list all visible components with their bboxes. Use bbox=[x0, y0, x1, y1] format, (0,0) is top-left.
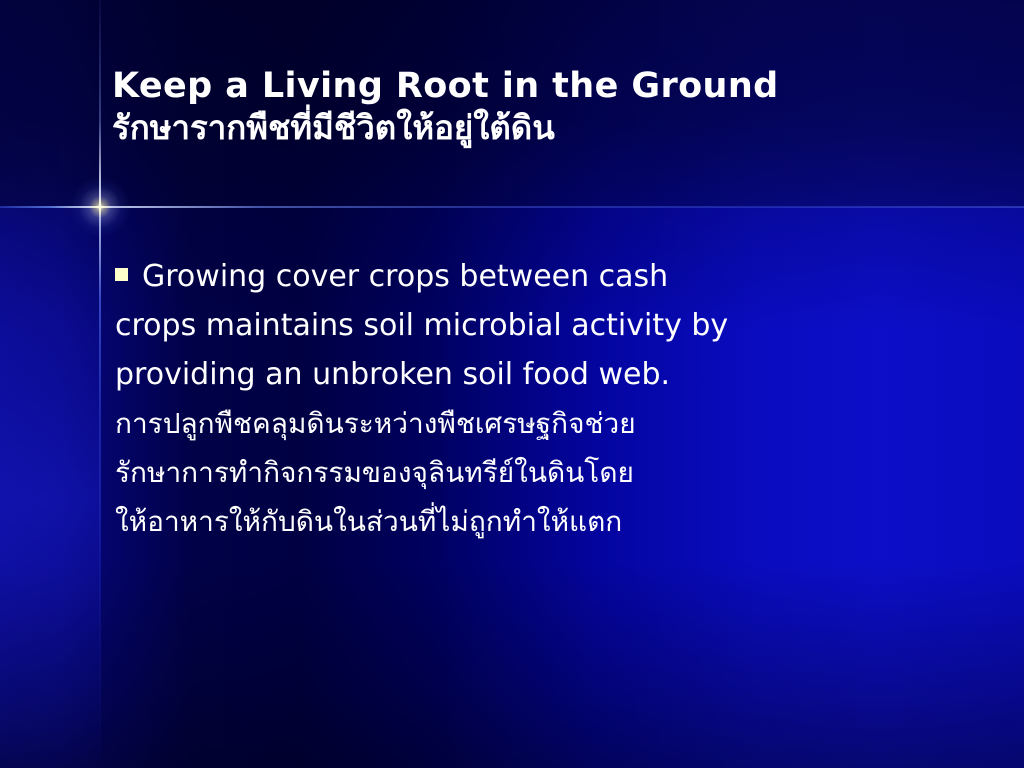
body-line-english-3: providing an unbroken soil food web. bbox=[115, 350, 965, 399]
square-bullet-icon bbox=[115, 268, 128, 281]
title-line-thai: รักษารากพืชที่มีชีวิตให้อยู่ใต้ดิน bbox=[112, 107, 992, 149]
body-line-thai-2: รักษาการทำกิจกรรมของจุลินทรีย์ในดินโดย bbox=[115, 448, 965, 497]
body-bullet-item: Growing cover crops between cash bbox=[115, 252, 965, 301]
body-line-english-1: Growing cover crops between cash bbox=[142, 259, 668, 294]
slide-title: Keep a Living Root in the Ground รักษารา… bbox=[112, 66, 992, 149]
title-line-english: Keep a Living Root in the Ground bbox=[112, 66, 992, 107]
body-line-english-2: crops maintains soil microbial activity … bbox=[115, 301, 965, 350]
slide-body: Growing cover crops between cash crops m… bbox=[115, 252, 965, 546]
slide-canvas: Keep a Living Root in the Ground รักษารา… bbox=[0, 0, 1024, 768]
slide-content: Keep a Living Root in the Ground รักษารา… bbox=[0, 0, 1024, 768]
body-line-thai-3: ให้อาหารให้กับดินในส่วนที่ไม่ถูกทำให้แตก bbox=[115, 497, 965, 546]
body-line-thai-1: การปลูกพืชคลุมดินระหว่างพืชเศรษฐกิจช่วย bbox=[115, 399, 965, 448]
